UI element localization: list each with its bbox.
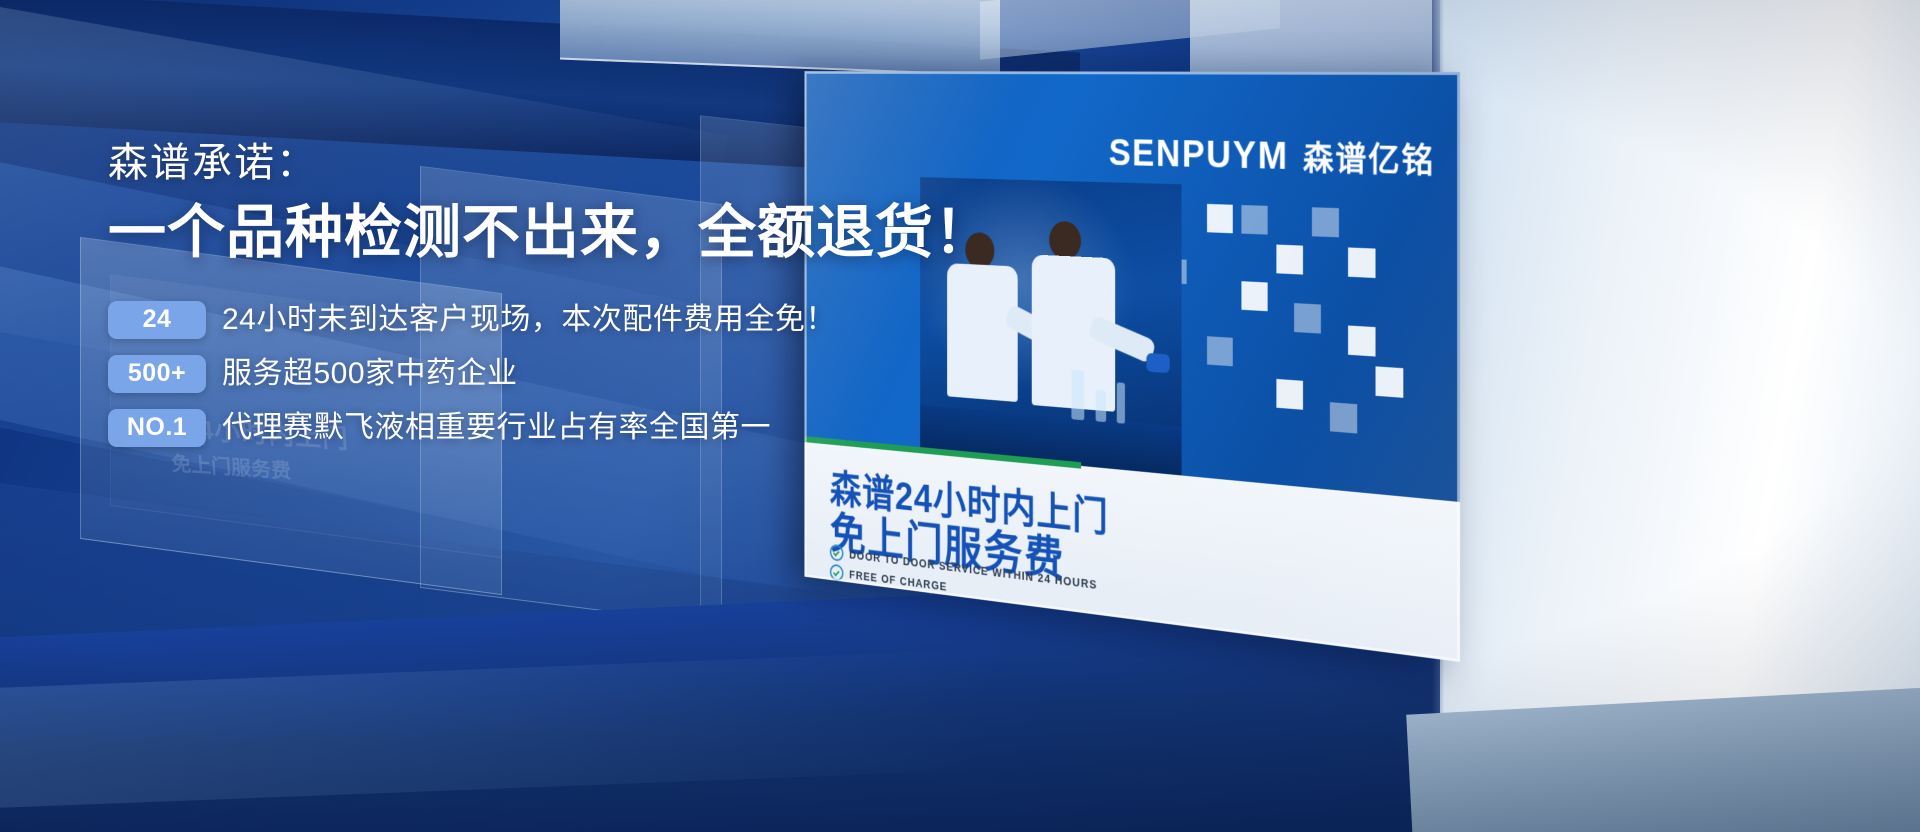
billboard-logo-cn: 森谱亿铭: [1303, 132, 1435, 183]
hero-bullet-item: NO.1 代理赛默飞液相重要行业占有率全国第一: [108, 409, 1108, 447]
hero-bullet-text: 代理赛默飞液相重要行业占有率全国第一: [222, 410, 771, 446]
hero-bullet-badge: 500+: [108, 355, 206, 393]
hero-banner: 森谱24小时内上门 免上门服务费: [0, 0, 1920, 832]
billboard-logo: SENPUYM 森谱亿铭: [1109, 129, 1436, 183]
check-circle-icon: [830, 544, 844, 562]
hero-headline: 一个品种检测不出来，全额退货！: [108, 202, 1108, 265]
hero-bullet-list: 24 24小时未到达客户现场，本次配件费用全免！ 500+ 服务超500家中药企…: [108, 301, 1108, 447]
hero-bullet-badge: 24: [108, 301, 206, 339]
hero-copy: 森谱承诺： 一个品种检测不出来，全额退货！ 24 24小时未到达客户现场，本次配…: [108, 140, 1108, 447]
hero-bullet-text: 24小时未到达客户现场，本次配件费用全免！: [222, 302, 836, 338]
hero-bullet-item: 24 24小时未到达客户现场，本次配件费用全免！: [108, 301, 1108, 339]
billboard-logo-en: SENPUYM: [1109, 132, 1289, 178]
check-circle-icon: [830, 564, 844, 582]
hero-bullet-text: 服务超500家中药企业: [222, 356, 518, 392]
hero-bullet-item: 500+ 服务超500家中药企业: [108, 355, 1108, 393]
hero-eyebrow: 森谱承诺：: [108, 140, 1108, 186]
hero-bullet-badge: NO.1: [108, 409, 206, 447]
